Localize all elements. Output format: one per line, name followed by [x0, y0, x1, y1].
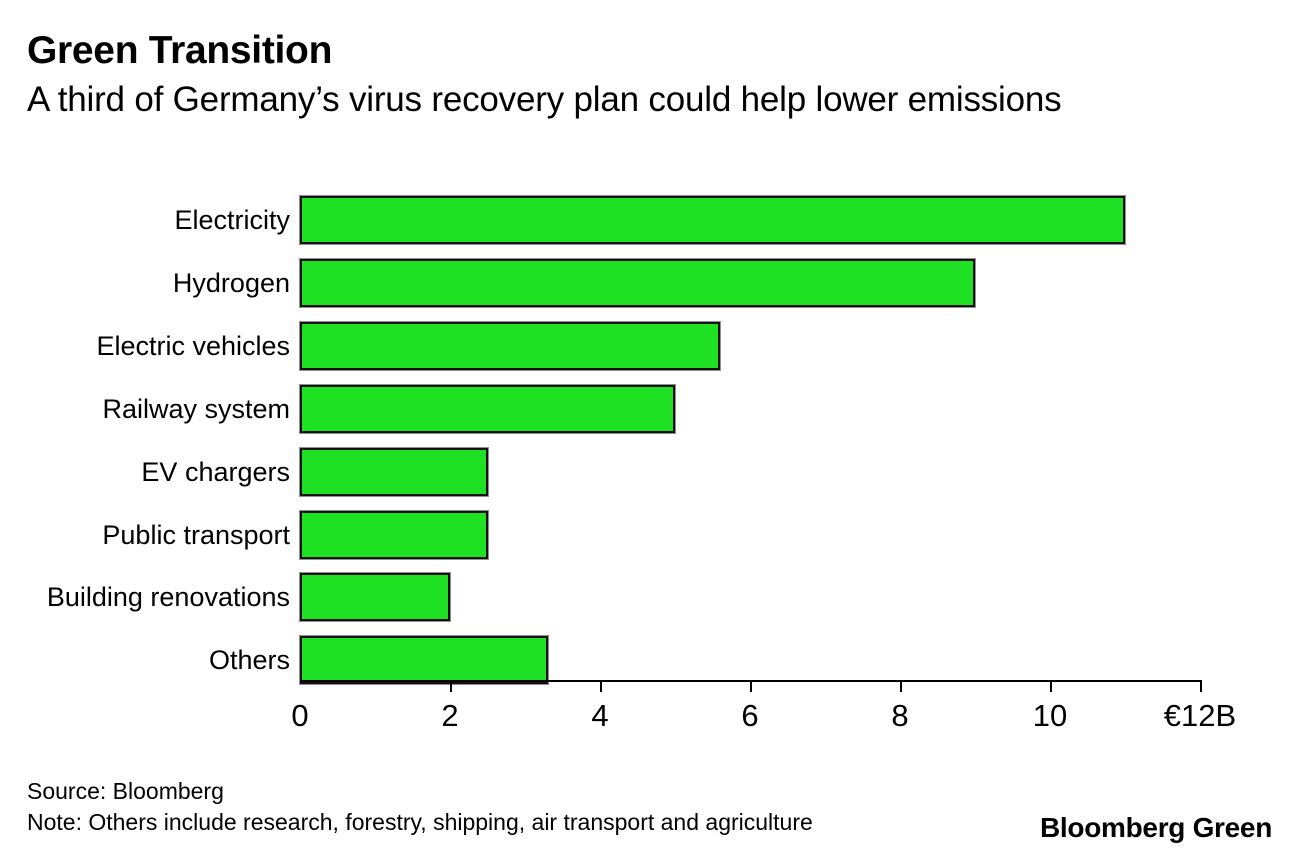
bar-ev-chargers[interactable] — [300, 448, 488, 496]
x-tick-label: 0 — [291, 698, 308, 734]
bar-electricity[interactable] — [300, 196, 1125, 244]
x-tick-mark — [450, 682, 452, 692]
bar-electric-vehicles[interactable] — [300, 322, 720, 370]
x-tick-mark — [1050, 682, 1052, 692]
bar-category-label: Others — [209, 636, 290, 684]
bar-category-label: Railway system — [102, 385, 290, 433]
bar-row: Others — [0, 636, 1296, 684]
bar-category-label: Building renovations — [47, 573, 290, 621]
x-tick-mark — [600, 682, 602, 692]
x-tick-label: €12B — [1164, 698, 1236, 734]
source-text: Source: Bloomberg — [27, 776, 1272, 807]
bar-row: Public transport — [0, 511, 1296, 559]
bar-hydrogen[interactable] — [300, 259, 975, 307]
x-tick-label: 2 — [441, 698, 458, 734]
bar-building-renovations[interactable] — [300, 573, 450, 621]
bar-row: Hydrogen — [0, 259, 1296, 307]
bar-row: Railway system — [0, 385, 1296, 433]
x-tick-mark — [750, 682, 752, 692]
bar-others[interactable] — [300, 636, 548, 684]
bar-category-label: Electric vehicles — [96, 322, 290, 370]
x-tick-label: 4 — [591, 698, 608, 734]
bar-category-label: Public transport — [102, 511, 290, 559]
x-tick-label: 6 — [741, 698, 758, 734]
bloomberg-green-logo: Bloomberg Green — [1040, 812, 1272, 844]
bar-row: Electricity — [0, 196, 1296, 244]
bar-category-label: Hydrogen — [173, 259, 290, 307]
x-tick-mark — [900, 682, 902, 692]
page-subtitle: A third of Germany’s virus recovery plan… — [27, 78, 1267, 122]
bar-row: Building renovations — [0, 573, 1296, 621]
bar-category-label: EV chargers — [141, 448, 290, 496]
bar-public-transport[interactable] — [300, 511, 488, 559]
x-tick-label: 8 — [891, 698, 908, 734]
bar-category-label: Electricity — [174, 196, 290, 244]
chart-header: Green Transition A third of Germany’s vi… — [27, 28, 1267, 122]
bar-row: Electric vehicles — [0, 322, 1296, 370]
bar-chart-plot-area: ElectricityHydrogenElectric vehiclesRail… — [0, 178, 1296, 698]
bar-railway-system[interactable] — [300, 385, 675, 433]
x-tick-label: 10 — [1033, 698, 1067, 734]
x-tick-mark — [1200, 682, 1202, 692]
bar-row: EV chargers — [0, 448, 1296, 496]
page-title: Green Transition — [27, 28, 1267, 74]
